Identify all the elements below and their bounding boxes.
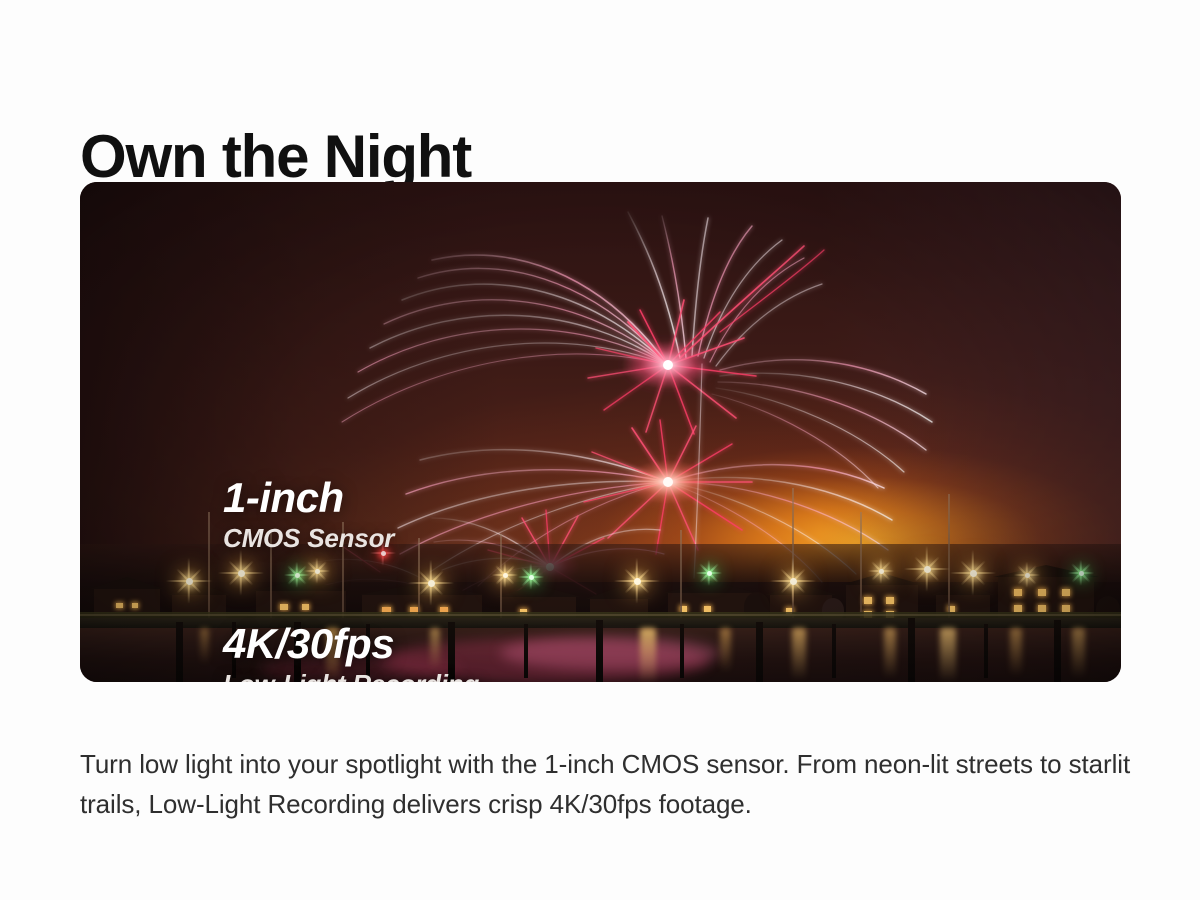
light-reflection	[640, 628, 656, 682]
light-reflection	[1010, 628, 1022, 676]
pier-piling	[756, 622, 763, 682]
page-title: Own the Night	[80, 124, 471, 190]
spec-label-sensor: CMOS Sensor	[223, 522, 394, 554]
promo-page: Own the Night	[0, 0, 1200, 900]
street-lamp-flare	[636, 580, 638, 582]
hero-image: 1-inch CMOS Sensor 4K/30fps Low-Light Re…	[80, 182, 1121, 682]
night-harbor-scene	[80, 182, 1121, 682]
street-lamp-flare	[926, 568, 928, 570]
street-lamp-flare	[972, 572, 974, 574]
caption-text: Turn low light into your spotlight with …	[80, 744, 1140, 824]
pier-piling	[832, 624, 836, 678]
green-lamp-flare	[708, 572, 710, 574]
boat-mast	[418, 538, 420, 622]
spec-block-sensor: 1-inch CMOS Sensor	[223, 474, 394, 554]
street-lamp-flare	[240, 572, 242, 574]
pier-piling	[984, 624, 988, 678]
spec-value-sensor: 1-inch	[223, 474, 394, 522]
street-lamp-flare	[188, 580, 190, 582]
light-reflection	[200, 628, 209, 664]
pier-piling	[908, 618, 915, 682]
water-shimmer	[500, 636, 720, 670]
boat-mast	[860, 512, 862, 622]
light-reflection	[940, 628, 956, 682]
light-reflection	[1072, 628, 1085, 678]
green-lamp-flare	[296, 574, 298, 576]
street-lamp-flare	[316, 570, 318, 572]
boat-mast	[680, 530, 682, 622]
spec-label-recording: Low-Light Recording	[223, 668, 479, 682]
pier-piling	[596, 620, 603, 682]
light-reflection	[720, 628, 731, 672]
sky-right-tint	[821, 182, 1121, 582]
green-lamp-flare	[530, 576, 532, 578]
pier-railing	[80, 614, 1121, 616]
light-reflection	[792, 628, 806, 680]
street-lamp-flare	[504, 574, 506, 576]
spec-block-recording: 4K/30fps Low-Light Recording	[223, 620, 479, 682]
pier-piling	[176, 622, 183, 682]
pier-piling	[680, 624, 684, 678]
street-lamp-flare	[430, 582, 432, 584]
pier-piling	[524, 624, 528, 678]
green-lamp-flare	[1080, 572, 1082, 574]
street-lamp-flare	[880, 570, 882, 572]
street-lamp-flare	[1026, 574, 1028, 576]
boat-mast	[948, 494, 950, 622]
spec-value-recording: 4K/30fps	[223, 620, 479, 668]
pier-piling	[1054, 620, 1061, 682]
boat-mast	[208, 512, 210, 622]
street-lamp-flare	[792, 580, 794, 582]
light-reflection	[884, 628, 896, 678]
